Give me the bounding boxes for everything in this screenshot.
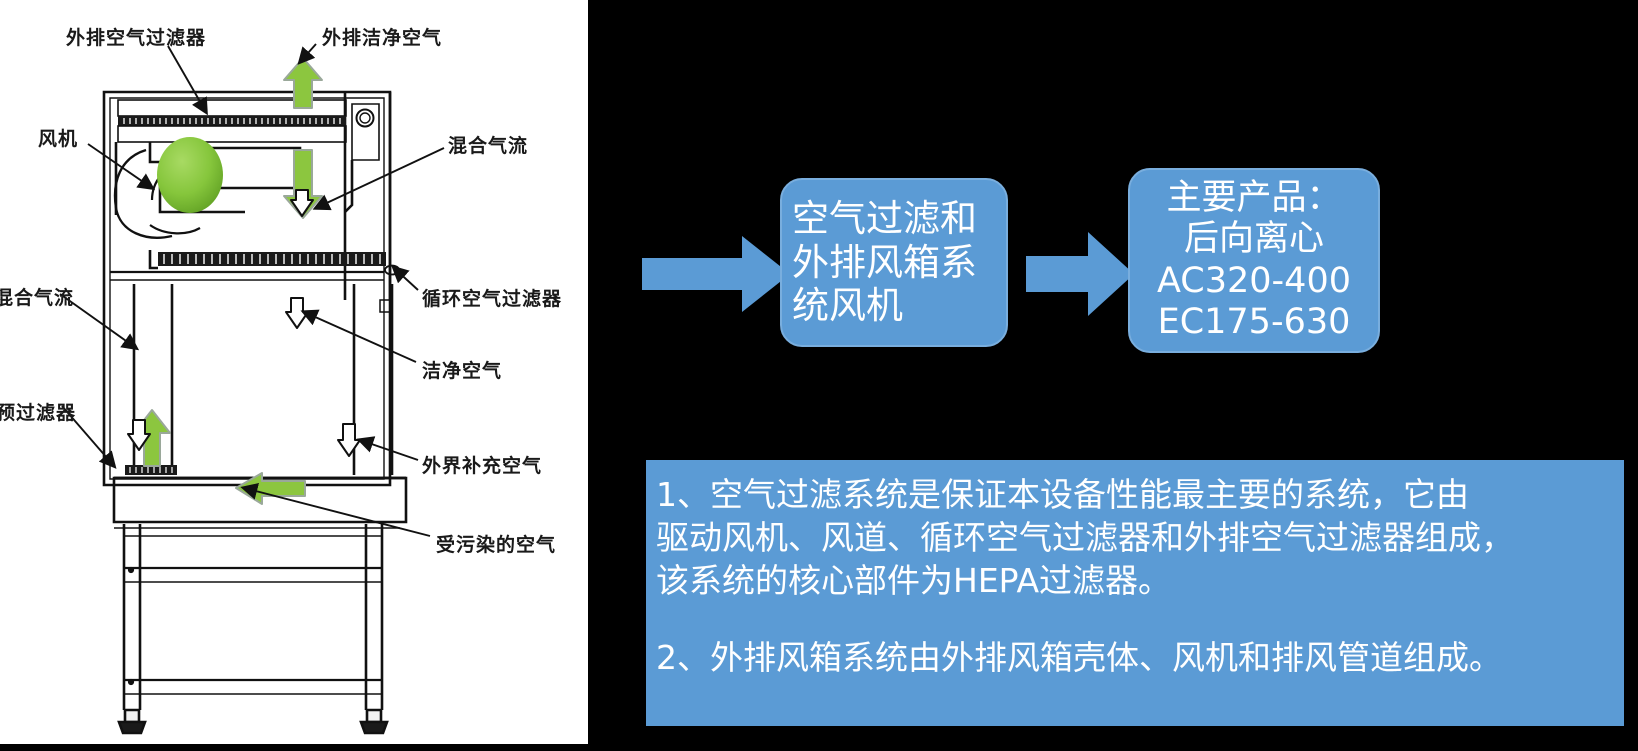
diagram-label-exhaust-clean-air: 外排洁净空气 xyxy=(322,23,442,50)
note-p1-line-3: 该系统的核心部件为HEPA过滤器。 xyxy=(656,561,1171,600)
flow-box-1-line-3: 统风机 xyxy=(792,284,903,328)
flow-box-2-line-3: AC320-400 xyxy=(1157,261,1351,302)
note-paragraph-2: 2、外排风箱系统由外排风箱壳体、风机和排风管道组成。 xyxy=(656,637,1616,680)
slide-canvas: 外排空气过滤器 外排洁净空气 风机 混合气流 循环空气过滤器 混合气流 洁净空气… xyxy=(0,0,1638,751)
arrow-to-box-2-icon xyxy=(1026,228,1136,320)
flow-box-2-line-1: 主要产品： xyxy=(1166,178,1341,219)
note-p1-line-2: 驱动风机、风道、循环空气过滤器和外排空气过滤器组成， xyxy=(656,518,1514,557)
note-p1-line-1: 1、空气过滤系统是保证本设备性能最主要的系统，它由 xyxy=(656,475,1469,514)
diagram-label-mixed-airflow-left: 混合气流 xyxy=(0,283,74,310)
flow-box-2-line-4: EC175-630 xyxy=(1158,302,1351,343)
cabinet-diagram-panel: 外排空气过滤器 外排洁净空气 风机 混合气流 循环空气过滤器 混合气流 洁净空气… xyxy=(0,0,588,744)
flow-box-1-line-2: 外排风箱系 xyxy=(792,241,977,285)
diagram-label-recirculation-air-filter: 循环空气过滤器 xyxy=(422,284,562,311)
diagram-label-mixed-airflow-top: 混合气流 xyxy=(448,131,528,158)
description-note-box: 1、空气过滤系统是保证本设备性能最主要的系统，它由 驱动风机、风道、循环空气过滤… xyxy=(646,460,1624,726)
diagram-label-pre-filter: 预过滤器 xyxy=(0,398,76,425)
diagram-label-clean-air: 洁净空气 xyxy=(422,356,502,383)
note-paragraph-spacer xyxy=(656,603,1616,637)
note-p2-line-1: 2、外排风箱系统由外排风箱壳体、风机和排风管道组成。 xyxy=(656,638,1502,677)
flow-box-main-products[interactable]: 主要产品： 后向离心 AC320-400 EC175-630 xyxy=(1128,168,1380,353)
flow-box-air-filtration-exhaust-fan[interactable]: 空气过滤和 外排风箱系 统风机 xyxy=(780,178,1008,347)
diagram-label-blower: 风机 xyxy=(38,124,78,151)
diagram-label-contaminated-air: 受污染的空气 xyxy=(436,530,556,557)
note-paragraph-1: 1、空气过滤系统是保证本设备性能最主要的系统，它由 驱动风机、风道、循环空气过滤… xyxy=(656,474,1616,603)
flow-box-2-line-2: 后向离心 xyxy=(1184,219,1324,260)
diagram-label-exhaust-air-filter: 外排空气过滤器 xyxy=(66,23,206,50)
diagram-label-makeup-air: 外界补充空气 xyxy=(422,451,542,478)
flow-box-1-line-1: 空气过滤和 xyxy=(792,197,977,241)
arrow-to-box-1-icon xyxy=(642,232,792,316)
